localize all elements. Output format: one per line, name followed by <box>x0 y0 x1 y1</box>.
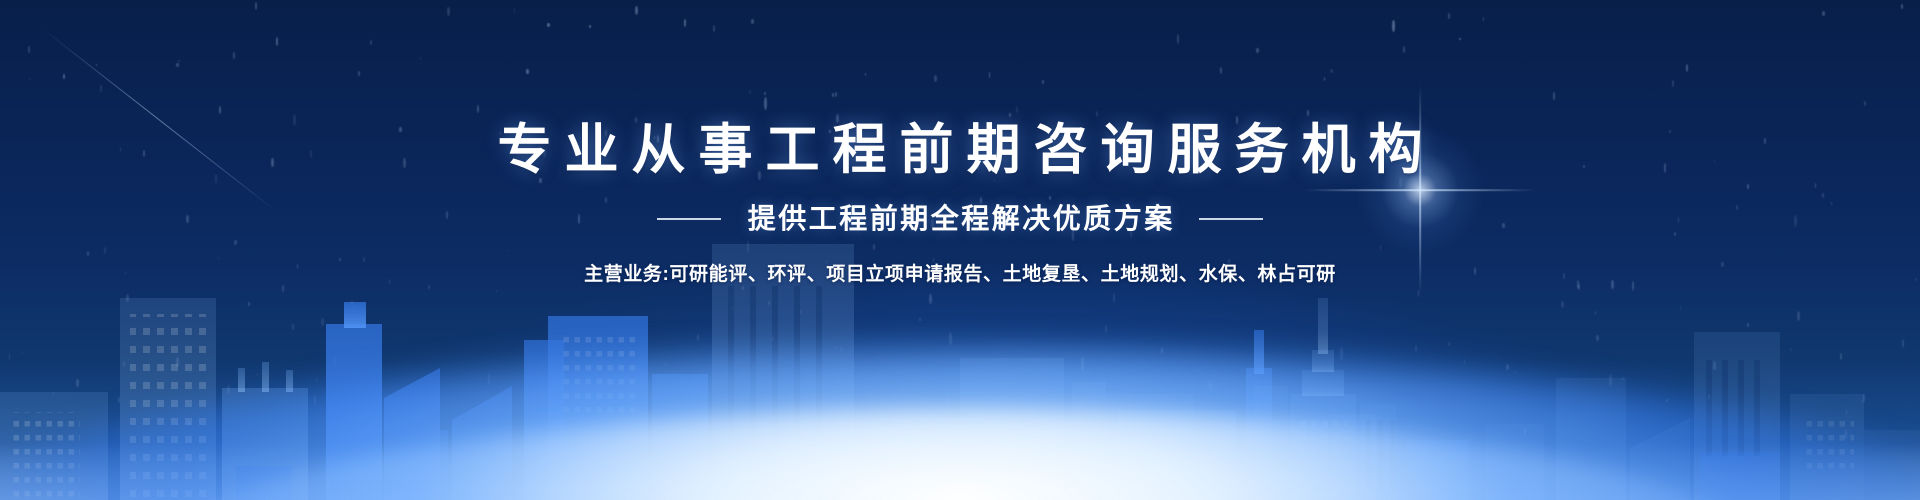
left-divider-icon <box>657 218 721 220</box>
page-subtitle: 提供工程前期全程解决优质方案 <box>745 202 1175 236</box>
page-title: 专业从事工程前期咨询服务机构 <box>0 120 1920 180</box>
subtitle-row: 提供工程前期全程解决优质方案 <box>0 202 1920 236</box>
banner-copy: 专业从事工程前期咨询服务机构 提供工程前期全程解决优质方案 主营业务:可研能评、… <box>0 0 1920 288</box>
business-scope-text: 主营业务:可研能评、环评、项目立项申请报告、土地复垦、土地规划、水保、林占可研 <box>0 262 1920 288</box>
hero-banner: 专业从事工程前期咨询服务机构 提供工程前期全程解决优质方案 主营业务:可研能评、… <box>0 0 1920 500</box>
right-divider-icon <box>1199 218 1263 220</box>
